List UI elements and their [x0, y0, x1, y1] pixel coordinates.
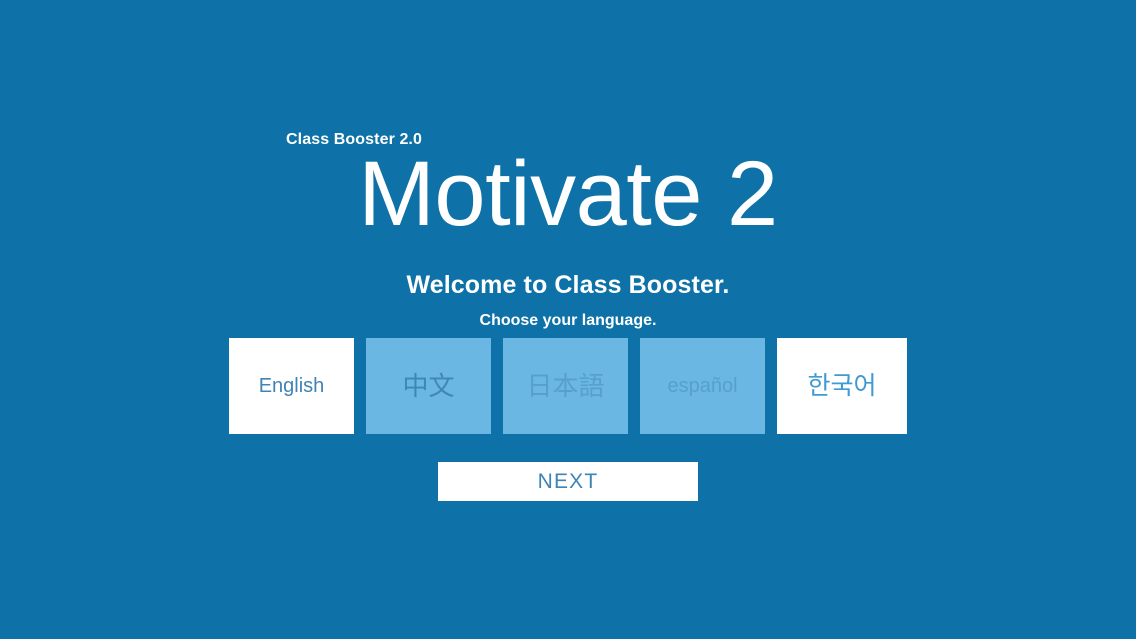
- app-title: Motivate 2: [0, 146, 1136, 242]
- next-button-label: NEXT: [538, 471, 599, 492]
- language-option-japanese[interactable]: 日本語: [503, 338, 628, 434]
- language-options-row: English 中文 日本語 español 한국어: [0, 338, 1136, 434]
- language-option-label: español: [667, 376, 737, 396]
- language-option-label: 한국어: [807, 374, 876, 399]
- choose-language-prompt: Choose your language.: [0, 311, 1136, 331]
- language-option-label: English: [259, 376, 325, 396]
- next-button-row: NEXT: [0, 462, 1136, 501]
- language-option-spanish[interactable]: español: [640, 338, 765, 434]
- language-option-label: 日本語: [526, 373, 604, 399]
- language-option-label: 中文: [402, 373, 454, 399]
- language-selection-screen: Class Booster 2.0 Motivate 2 Welcome to …: [0, 0, 1136, 639]
- next-button[interactable]: NEXT: [438, 462, 698, 501]
- language-option-chinese[interactable]: 中文: [366, 338, 491, 434]
- branding-block: Class Booster 2.0 Motivate 2: [0, 130, 1136, 242]
- language-option-korean[interactable]: 한국어: [777, 338, 907, 434]
- language-option-english[interactable]: English: [229, 338, 354, 434]
- welcome-heading: Welcome to Class Booster.: [0, 270, 1136, 300]
